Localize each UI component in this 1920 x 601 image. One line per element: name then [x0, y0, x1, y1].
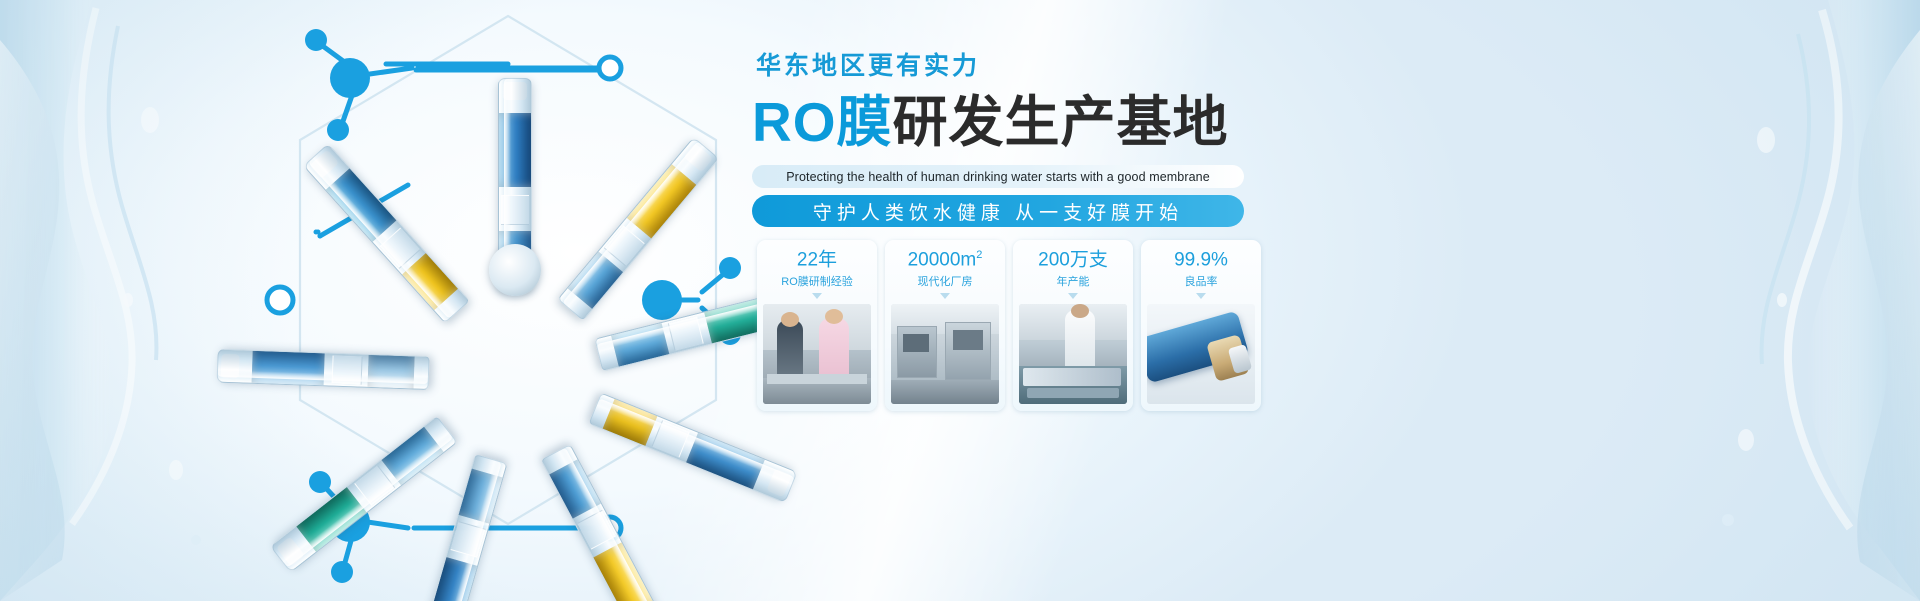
membrane-tube — [557, 137, 719, 321]
stat-label: 良品率 — [1185, 273, 1218, 289]
caret-down-icon — [812, 293, 822, 299]
membrane-tube — [303, 143, 470, 323]
stat-number: 99.9% — [1174, 249, 1228, 271]
english-subtitle-bar: Protecting the health of human drinking … — [752, 165, 1244, 188]
lab-technicians-photo — [763, 304, 871, 404]
caret-down-icon — [1196, 293, 1206, 299]
caret-down-icon — [940, 293, 950, 299]
ro-membrane-product-photo — [1147, 304, 1255, 404]
headline-block: 华东地区更有实力 RO膜研发生产基地 Protecting the health… — [752, 54, 1272, 227]
stat-number: 20000m2 — [908, 249, 983, 271]
stat-label: 现代化厂房 — [918, 273, 973, 289]
stat-card[interactable]: 22年 RO膜研制经验 — [757, 240, 877, 411]
chinese-slogan-text: 守护人类饮水健康 从一支好膜开始 — [813, 198, 1183, 225]
headline-dark-part: 研发生产基地 — [893, 91, 1229, 153]
membrane-tube-fan-graphic — [300, 40, 730, 500]
ro-membrane-hero-banner: 华东地区更有实力 RO膜研发生产基地 Protecting the health… — [0, 0, 1920, 601]
stat-card[interactable]: 20000m2 现代化厂房 — [885, 240, 1005, 411]
factory-machines-photo — [891, 304, 999, 404]
stat-number: 22年 — [797, 249, 837, 271]
worker-packing-photo — [1019, 304, 1127, 404]
stat-card-list: 22年 RO膜研制经验 20000m2 现代化厂房 — [757, 240, 1261, 411]
stat-card[interactable]: 99.9% 良品率 — [1141, 240, 1261, 411]
stat-label: RO膜研制经验 — [781, 273, 853, 289]
membrane-fan-hub — [489, 244, 541, 296]
stat-unit-sup: 2 — [976, 249, 982, 261]
stat-number: 200万支 — [1038, 249, 1108, 271]
stat-card[interactable]: 200万支 年产能 — [1013, 240, 1133, 411]
stat-label: 年产能 — [1057, 273, 1090, 289]
page-title: RO膜研发生产基地 — [752, 93, 1272, 151]
membrane-tube — [217, 349, 430, 390]
headline-blue-part: RO膜 — [752, 91, 893, 153]
water-splash-right-graphic — [1560, 0, 1920, 601]
caret-down-icon — [1068, 293, 1078, 299]
chinese-slogan-bar: 守护人类饮水健康 从一支好膜开始 — [752, 195, 1244, 227]
english-subtitle-text: Protecting the health of human drinking … — [786, 170, 1210, 184]
eyebrow-text: 华东地区更有实力 — [756, 54, 1272, 79]
